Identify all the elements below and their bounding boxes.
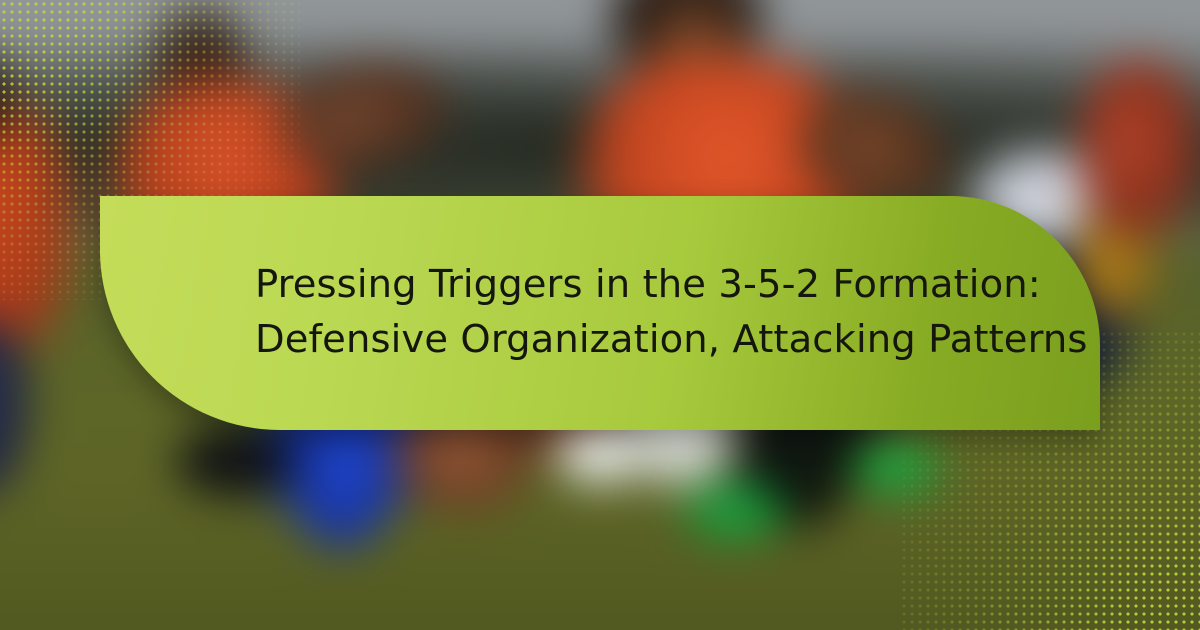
social-share-card: Pressing Triggers in the 3-5-2 Formation… <box>0 0 1200 630</box>
player-main-boot-right <box>850 440 942 496</box>
page-title-line-1: Pressing Triggers in the 3-5-2 Formation… <box>255 258 1015 313</box>
page-title-line-2: Defensive Organization, Attacking Patter… <box>255 313 1015 368</box>
grounded-player-boot <box>176 426 296 496</box>
player-main-boot-left <box>682 480 787 542</box>
page-title: Pressing Triggers in the 3-5-2 Formation… <box>115 258 1085 367</box>
background-figure-red <box>1080 60 1200 240</box>
title-banner: Pressing Triggers in the 3-5-2 Formation… <box>100 196 1100 430</box>
